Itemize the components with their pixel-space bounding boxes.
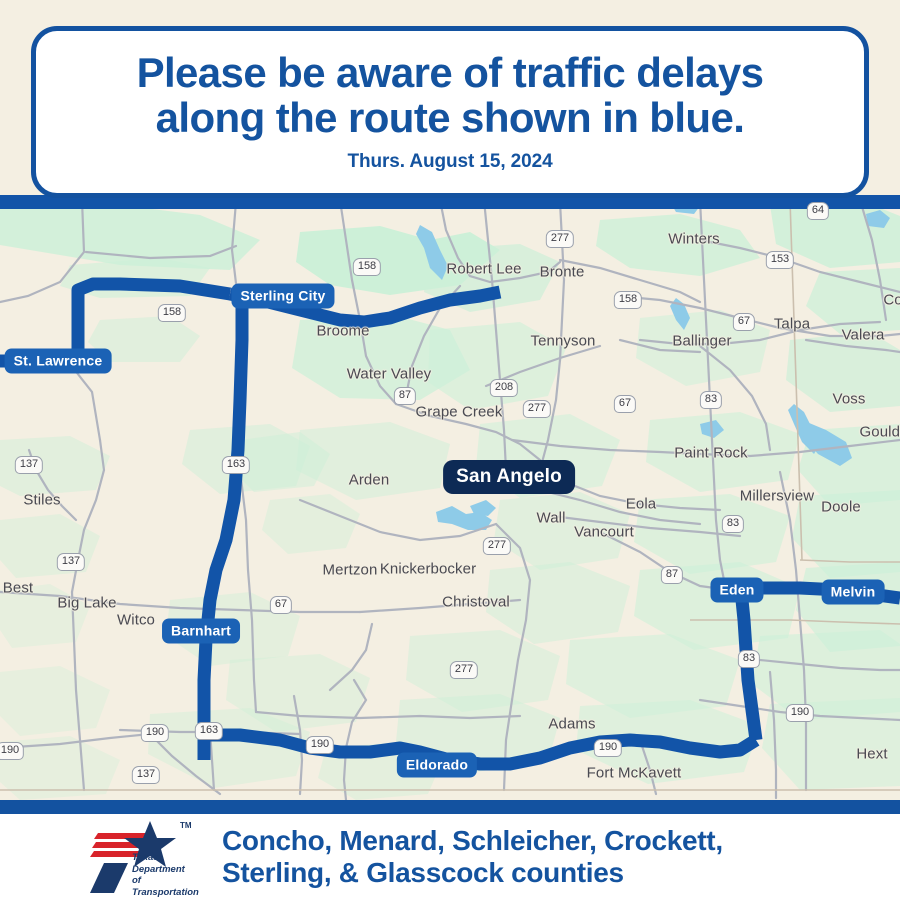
place-label-adams: Adams xyxy=(548,716,595,733)
place-label-paint-rock: Paint Rock xyxy=(674,445,748,462)
place-label-valera: Valera xyxy=(842,327,885,344)
place-label-arden: Arden xyxy=(349,472,390,489)
route-city-melvin[interactable]: Melvin xyxy=(822,580,885,605)
wordmark-line-3: of Transportation xyxy=(132,875,208,898)
place-label-big-lake: Big Lake xyxy=(57,595,116,612)
place-label-christoval: Christoval xyxy=(442,594,510,611)
place-label-grape-creek: Grape Creek xyxy=(416,404,503,421)
txdot-logo: TM Texas Department of Transportation xyxy=(88,819,208,895)
place-label-vancourt: Vancourt xyxy=(574,524,634,541)
route-city-sterling-city[interactable]: Sterling City xyxy=(231,284,334,309)
place-label-tennyson: Tennyson xyxy=(530,333,595,350)
highway-shield-190: 190 xyxy=(141,724,169,742)
highway-shield-163: 163 xyxy=(222,456,250,474)
highway-shield-277: 277 xyxy=(546,230,574,248)
highway-shield-87: 87 xyxy=(394,387,416,405)
event-date: Thurs. August 15, 2024 xyxy=(347,151,552,173)
highway-shield-83: 83 xyxy=(722,515,744,533)
place-label-knickerbocker: Knickerbocker xyxy=(380,561,476,578)
highway-shield-163: 163 xyxy=(195,722,223,740)
highway-shield-137: 137 xyxy=(57,553,85,571)
highway-shield-277: 277 xyxy=(483,537,511,555)
counties-line-2: Sterling, & Glasscock counties xyxy=(222,857,723,889)
place-label-water-valley: Water Valley xyxy=(347,366,432,383)
highway-shield-158: 158 xyxy=(353,258,381,276)
highway-shield-190: 190 xyxy=(0,742,24,760)
trademark-symbol: TM xyxy=(180,821,192,830)
place-label-doole: Doole xyxy=(821,499,861,516)
place-label-witco: Witco xyxy=(117,612,155,629)
highway-shield-208: 208 xyxy=(490,379,518,397)
footer-bar: TM Texas Department of Transportation Co… xyxy=(0,814,900,900)
txdot-wordmark: Texas Department of Transportation xyxy=(132,852,208,898)
highway-shield-158: 158 xyxy=(158,304,186,322)
highway-shield-67: 67 xyxy=(270,596,292,614)
route-city-eldorado[interactable]: Eldorado xyxy=(397,753,477,778)
footer-divider xyxy=(0,800,900,814)
highway-shield-137: 137 xyxy=(132,766,160,784)
route-city-barnhart[interactable]: Barnhart xyxy=(162,619,240,644)
highway-shield-190: 190 xyxy=(594,739,622,757)
place-label-fort-mckavett: Fort McKavett xyxy=(587,765,682,782)
highway-shield-83: 83 xyxy=(700,391,722,409)
place-label-wall: Wall xyxy=(536,510,565,527)
headline-line-2: along the route shown in blue. xyxy=(156,96,745,141)
headline-line-1: Please be aware of traffic delays xyxy=(137,51,764,96)
wordmark-line-2: Department xyxy=(132,864,208,876)
counties-line-1: Concho, Menard, Schleicher, Crockett, xyxy=(222,825,723,857)
counties-text: Concho, Menard, Schleicher, Crockett, St… xyxy=(222,825,723,889)
wordmark-line-1: Texas xyxy=(132,852,208,864)
major-city-san-angelo[interactable]: San Angelo xyxy=(443,460,575,494)
highway-shield-190: 190 xyxy=(786,704,814,722)
place-label-gouldb: Gouldb xyxy=(860,424,900,441)
highway-shield-137: 137 xyxy=(15,456,43,474)
highway-shield-190: 190 xyxy=(306,736,334,754)
place-label-mertzon: Mertzon xyxy=(323,562,378,579)
place-label-stiles: Stiles xyxy=(23,492,60,509)
highway-shield-153: 153 xyxy=(766,251,794,269)
highway-shield-64: 64 xyxy=(807,202,829,220)
highway-shield-67: 67 xyxy=(614,395,636,413)
place-label-voss: Voss xyxy=(833,391,866,408)
highway-shield-277: 277 xyxy=(523,400,551,418)
place-label-hext: Hext xyxy=(856,746,887,763)
place-label-winters: Winters xyxy=(668,231,720,248)
place-label-millersview: Millersview xyxy=(740,488,814,505)
place-label-eola: Eola xyxy=(626,496,656,513)
place-label-talpa: Talpa xyxy=(774,316,810,333)
highway-shield-277: 277 xyxy=(450,661,478,679)
place-label-ballinger: Ballinger xyxy=(672,333,731,350)
highway-shield-87: 87 xyxy=(661,566,683,584)
highway-shield-67: 67 xyxy=(733,313,755,331)
place-label-robert-lee: Robert Lee xyxy=(446,261,521,278)
route-city-st-lawrence[interactable]: St. Lawrence xyxy=(5,349,112,374)
route-city-eden[interactable]: Eden xyxy=(710,578,763,603)
place-label-best: Best xyxy=(3,580,33,597)
slash-icon xyxy=(90,863,128,893)
highway-shield-83: 83 xyxy=(738,650,760,668)
place-label-broome: Broome xyxy=(316,323,369,340)
place-label-bronte: Bronte xyxy=(540,264,585,281)
infographic-page: WintersRobert LeeBronteBroomeTennysonBal… xyxy=(0,0,900,900)
place-label-co: Co xyxy=(883,292,900,309)
highway-shield-158: 158 xyxy=(614,291,642,309)
announcement-card: Please be aware of traffic delays along … xyxy=(31,26,869,198)
